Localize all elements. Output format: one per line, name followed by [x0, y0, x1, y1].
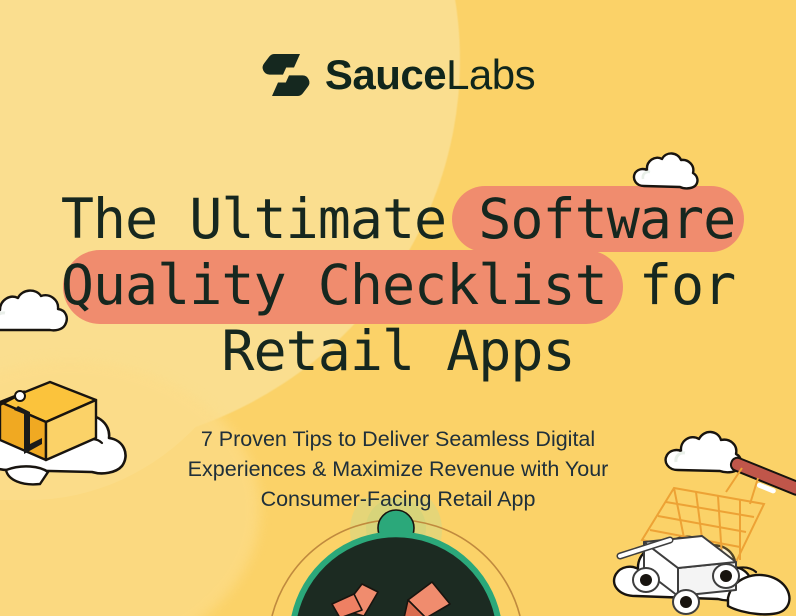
saucelabs-logo-mark-icon — [261, 50, 311, 100]
headline-text-plain-3: Retail Apps — [221, 319, 574, 383]
logo-brand-bold: Sauce — [325, 51, 446, 98]
headline-text-plain-2: for — [607, 253, 735, 317]
subtitle-line-2: Experiences & Maximize Revenue with Your — [70, 454, 726, 484]
subtitle-line-3: Consumer-Facing Retail App — [70, 484, 726, 514]
headline-text-highlight-2: Quality Checklist — [61, 253, 607, 317]
subtitle-line-1: 7 Proven Tips to Deliver Seamless Digita… — [70, 424, 726, 454]
saucelabs-logo[interactable]: SauceLabs — [261, 50, 535, 100]
headline-text-highlight-1: Software — [478, 187, 735, 251]
logo-brand-light: Labs — [446, 51, 535, 98]
headline-line-3: Retail Apps — [0, 318, 796, 384]
headline-text-plain-1: The Ultimate — [61, 187, 478, 251]
page-title: The Ultimate Software Quality Checklist … — [0, 186, 796, 384]
globe-pin-illustration — [236, 498, 556, 616]
headline-line-2: Quality Checklist for — [0, 252, 796, 318]
poster-canvas: SauceLabs The Ultimate Software Quality … — [0, 0, 796, 616]
page-subtitle: 7 Proven Tips to Deliver Seamless Digita… — [0, 424, 796, 514]
saucelabs-logo-text: SauceLabs — [325, 54, 535, 96]
page-header: SauceLabs — [0, 50, 796, 100]
headline-line-1: The Ultimate Software — [0, 186, 796, 252]
